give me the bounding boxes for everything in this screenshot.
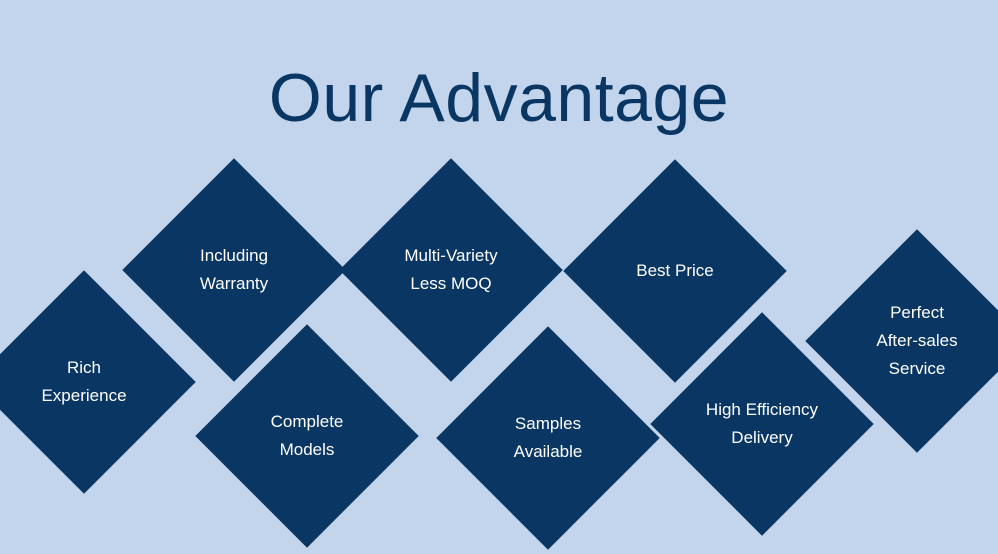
diamond-label-line: After-sales	[832, 327, 998, 355]
diamond-label-line: Samples	[463, 410, 633, 438]
diamond-high-efficiency-delivery[interactable]: High EfficiencyDelivery	[683, 345, 841, 503]
diamond-label: Multi-VarietyLess MOQ	[366, 242, 536, 298]
diamond-complete-models[interactable]: CompleteModels	[228, 357, 386, 515]
diamond-label-line: Available	[463, 438, 633, 466]
diamond-label: IncludingWarranty	[149, 242, 319, 298]
diamond-label-line: Including	[149, 242, 319, 270]
diamond-perfect-after-sales-service[interactable]: PerfectAfter-salesService	[838, 262, 996, 420]
diamond-multi-variety-less-moq[interactable]: Multi-VarietyLess MOQ	[372, 191, 530, 349]
diamond-label: SamplesAvailable	[463, 410, 633, 466]
diamond-label: CompleteModels	[222, 408, 392, 464]
diamond-label-line: Experience	[0, 382, 169, 410]
diamond-rich-experience[interactable]: RichExperience	[5, 303, 163, 461]
diamond-label-line: Multi-Variety	[366, 242, 536, 270]
diamond-label: RichExperience	[0, 354, 169, 410]
diamond-label-line: Rich	[0, 354, 169, 382]
diamond-samples-available[interactable]: SamplesAvailable	[469, 359, 627, 517]
diamond-label-line: Delivery	[677, 424, 847, 452]
diamond-label-line: Service	[832, 355, 998, 383]
diamond-label-line: Models	[222, 436, 392, 464]
diamond-label-line: Warranty	[149, 270, 319, 298]
diamond-label: Best Price	[590, 257, 760, 285]
diamond-label-line: High Efficiency	[677, 396, 847, 424]
diamond-label-line: Best Price	[590, 257, 760, 285]
diamond-grid: RichExperienceIncludingWarrantyCompleteM…	[0, 0, 998, 554]
diamond-best-price[interactable]: Best Price	[596, 192, 754, 350]
diamond-including-warranty[interactable]: IncludingWarranty	[155, 191, 313, 349]
diamond-label-line: Complete	[222, 408, 392, 436]
diamond-label: High EfficiencyDelivery	[677, 396, 847, 452]
advantage-slide: Our Advantage RichExperienceIncludingWar…	[0, 0, 998, 554]
diamond-label: PerfectAfter-salesService	[832, 299, 998, 383]
diamond-label-line: Perfect	[832, 299, 998, 327]
diamond-label-line: Less MOQ	[366, 270, 536, 298]
